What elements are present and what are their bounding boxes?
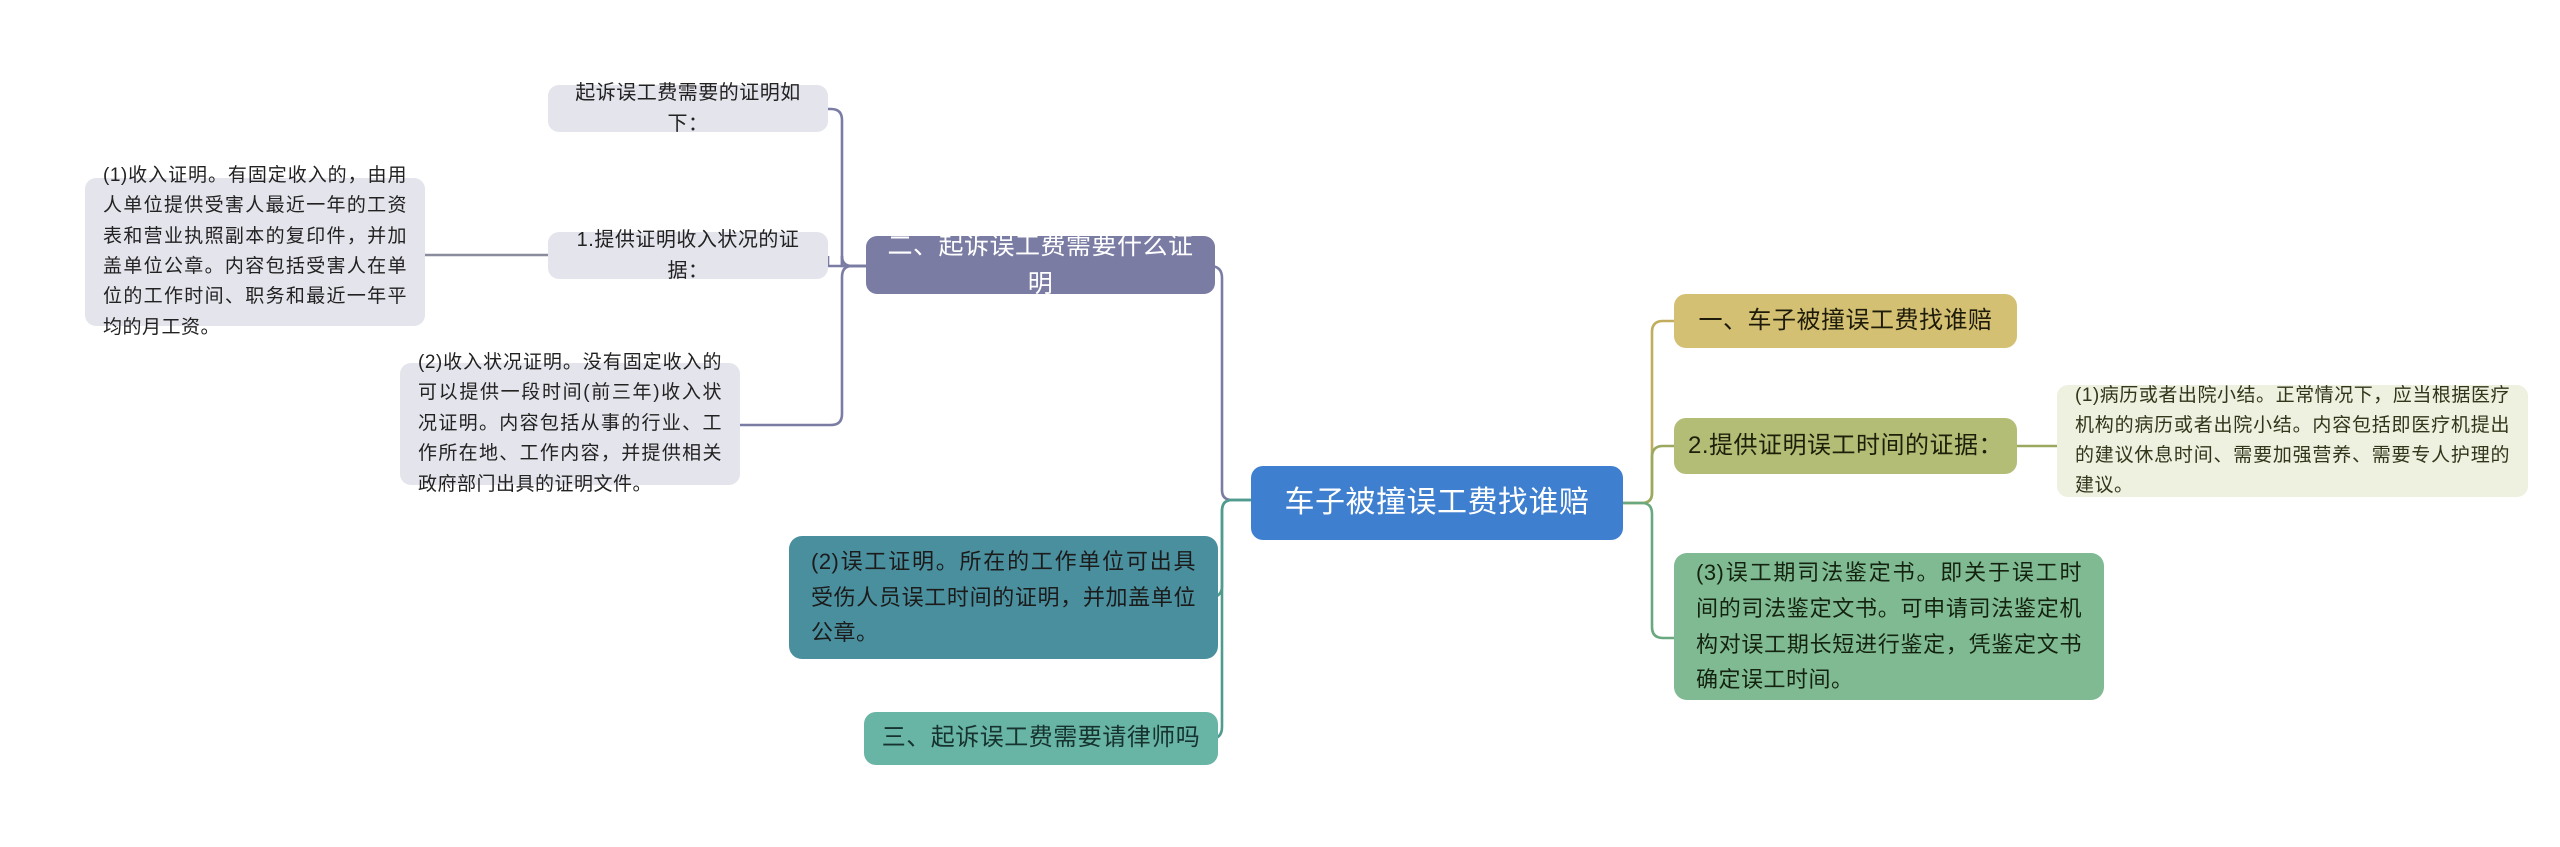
node-medical-record-proof[interactable]: (1)病历或者出院小结。正常情况下，应当根据医疗机构的病历或者出院小结。内容包括… — [2057, 385, 2528, 497]
node-label: (1)收入证明。有固定收入的，由用人单位提供受害人最近一年的工资表和营业执照副本… — [103, 161, 407, 343]
connector-root-to-olive — [1623, 446, 1674, 503]
node-time-evidence-group[interactable]: 2.提供证明误工时间的证据： — [1674, 418, 2017, 474]
node-label: 一、车子被撞误工费找谁赔 — [1699, 303, 1993, 339]
node-income-proof[interactable]: (1)收入证明。有固定收入的，由用人单位提供受害人最近一年的工资表和营业执照副本… — [85, 178, 425, 326]
node-label: 二、起诉误工费需要什么证明 — [878, 227, 1203, 303]
node-label: (2)收入状况证明。没有固定收入的可以提供一段时间(前三年)收入状况证明。内容包… — [418, 348, 722, 500]
node-label: (1)病历或者出院小结。正常情况下，应当根据医疗机构的病历或者出院小结。内容包括… — [2075, 381, 2510, 501]
connector-purple-main-to-intro — [828, 109, 866, 266]
node-who-pays[interactable]: 一、车子被撞误工费找谁赔 — [1674, 294, 2017, 348]
node-label: 2.提供证明误工时间的证据： — [1688, 428, 2003, 464]
connector-root-to-green — [1623, 503, 1674, 638]
connector-root-to-gold — [1623, 321, 1674, 503]
node-label: (3)误工期司法鉴定书。即关于误工时间的司法鉴定文书。可申请司法鉴定机构对误工期… — [1696, 555, 2082, 698]
node-intro-statement[interactable]: 起诉误工费需要的证明如下： — [548, 85, 828, 132]
node-income-evidence-group[interactable]: 1.提供证明收入状况的证据： — [548, 232, 828, 279]
node-label: 车子被撞误工费找谁赔 — [1285, 480, 1590, 526]
node-work-loss-certificate[interactable]: (2)误工证明。所在的工作单位可出具受伤人员误工时间的证明，并加盖单位公章。 — [789, 536, 1218, 659]
node-label: 三、起诉误工费需要请律师吗 — [882, 720, 1201, 756]
node-root-topic[interactable]: 车子被撞误工费找谁赔 — [1251, 466, 1623, 540]
node-label: (2)误工证明。所在的工作单位可出具受伤人员误工时间的证明，并加盖单位公章。 — [811, 544, 1196, 651]
connector-purple-main-to-evidence-group-line — [828, 256, 866, 266]
connector-purple-main-to-leaf2 — [740, 266, 866, 425]
node-what-proof-needed[interactable]: 二、起诉误工费需要什么证明 — [866, 236, 1215, 294]
node-label: 起诉误工费需要的证明如下： — [560, 78, 816, 139]
node-label: 1.提供证明收入状况的证据： — [560, 225, 816, 286]
node-income-status-proof[interactable]: (2)收入状况证明。没有固定收入的可以提供一段时间(前三年)收入状况证明。内容包… — [400, 363, 740, 485]
connector-purple-main-to-evidence-group — [842, 256, 866, 266]
node-judicial-appraisal-proof[interactable]: (3)误工期司法鉴定书。即关于误工时间的司法鉴定文书。可申请司法鉴定机构对误工期… — [1674, 553, 2104, 700]
mindmap-canvas: 起诉误工费需要的证明如下： (1)收入证明。有固定收入的，由用人单位提供受害人最… — [0, 0, 2560, 847]
connector-root-to-purple-main — [1210, 266, 1251, 500]
node-need-lawyer[interactable]: 三、起诉误工费需要请律师吗 — [864, 712, 1218, 765]
